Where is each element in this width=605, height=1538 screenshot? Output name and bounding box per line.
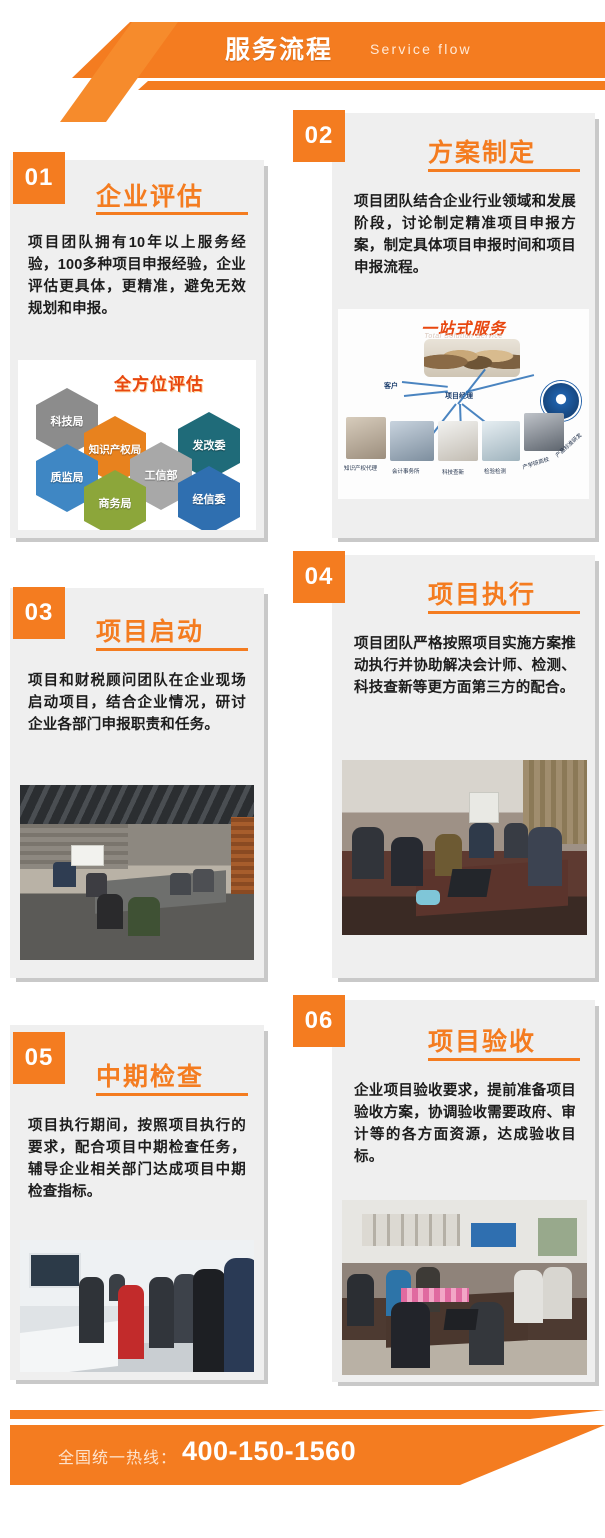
arrow-from-customer — [404, 390, 448, 397]
step-title-06: 项目验收 — [428, 1022, 536, 1058]
step-card-05: 05 中期检查 项目执行期间，按照项目执行的要求，配合项目中期检查任务，辅导企业… — [10, 1025, 264, 1380]
photo-person-5 — [193, 1269, 226, 1372]
step-number-badge-04: 04 — [293, 551, 345, 603]
photo-person-2 — [391, 837, 423, 886]
thumb-inspection — [482, 421, 520, 461]
footer-orange-stripe — [10, 1410, 605, 1419]
arrow-to-customer — [402, 381, 448, 388]
step-body-03: 项目和财税顾问团队在企业现场启动项目，结合企业情况，研讨企业各部门申报职责和任务… — [28, 670, 246, 736]
photo-person-6 — [528, 827, 562, 887]
step-card-06: 06 项目验收 企业项目验收要求，提前准备项目验收方案，协调验收需要政府、审计等… — [332, 1000, 595, 1382]
thumb-accounting — [390, 421, 434, 461]
photo-person-7 — [543, 1267, 572, 1320]
title-underline-04 — [428, 611, 580, 614]
photo-wood-panel — [231, 817, 254, 894]
one-stop-label-inspection: 检验检测 — [484, 467, 506, 475]
one-stop-label-ip: 知识产权代理 — [344, 464, 377, 472]
photo-bag — [416, 890, 441, 906]
step-number-badge-06: 06 — [293, 995, 345, 1047]
photo-display-screen — [29, 1253, 80, 1287]
photo-person-1 — [53, 862, 76, 887]
photo-laptop — [447, 869, 491, 897]
photo-laptop — [443, 1309, 478, 1330]
hexagon-infographic: 全方位评估 科技局 知识产权局 发改委 质监局 工信部 商务局 经信委 — [18, 360, 256, 530]
photo-person-4 — [170, 873, 191, 896]
step-card-02: 02 方案制定 项目团队结合企业行业领域和发展阶段，讨论制定精准项目申报方案，制… — [332, 113, 595, 538]
conference-room-photo — [20, 785, 254, 960]
photo-person-green-coat — [128, 897, 161, 936]
step-title-03: 项目启动 — [96, 612, 204, 648]
photo-person-5 — [504, 823, 529, 858]
photo-person-red-coat — [118, 1285, 144, 1359]
step-number-badge-01: 01 — [13, 152, 65, 204]
photo-ceiling — [20, 785, 254, 824]
hexagon-title: 全方位评估 — [114, 370, 204, 395]
photo-person-5 — [193, 869, 214, 892]
hotline-label: 全国统一热线： — [58, 1444, 177, 1468]
step-body-06: 企业项目验收要求，提前准备项目验收方案，协调验收需要政府、审计等的各方面资源，达… — [354, 1080, 576, 1168]
title-underline-02 — [428, 169, 580, 172]
title-underline-01 — [96, 212, 248, 215]
step-title-05: 中期检查 — [96, 1057, 204, 1093]
photo-person-1 — [352, 827, 384, 880]
photo-certificate-wall — [362, 1214, 460, 1246]
title-underline-05 — [96, 1093, 248, 1096]
photo-person-6 — [224, 1258, 254, 1372]
step-number-badge-02: 02 — [293, 110, 345, 162]
one-stop-label-customer: 客户 — [384, 381, 398, 391]
thumb-tech-search — [438, 421, 478, 461]
title-underline-03 — [96, 648, 248, 651]
step-body-04: 项目团队严格按照项目实施方案推动执行并协助解决会计师、检测、科技查新等更方面第三… — [354, 633, 576, 699]
page-header: 服务流程 Service flow — [0, 0, 605, 110]
step-body-05: 项目执行期间，按照项目执行的要求，配合项目中期检查任务，辅导企业相关部门达成项目… — [28, 1115, 246, 1203]
photo-whiteboard — [71, 845, 104, 866]
thumb-university — [524, 413, 564, 451]
photo-person-4 — [391, 1302, 430, 1369]
acceptance-meeting-photo — [342, 1200, 587, 1375]
photo-person-3 — [97, 894, 123, 929]
photo-person-1 — [79, 1277, 105, 1343]
one-stop-label-university: 产学研高校 — [521, 455, 550, 471]
photo-person-1 — [347, 1274, 374, 1327]
photo-green-board — [538, 1218, 577, 1257]
one-stop-center-photo — [424, 339, 520, 377]
step-body-02: 项目团队结合企业行业领域和发展阶段，讨论制定精准项目申报方案，制定具体项目申报时… — [354, 191, 576, 279]
step-card-03: 03 项目启动 项目和财税顾问团队在企业现场启动项目，结合企业情况，研讨企业各部… — [10, 588, 264, 978]
step-card-01: 01 企业评估 项目团队拥有10年以上服务经验，100多种项目申报经验，企业评估… — [10, 160, 264, 538]
step-title-02: 方案制定 — [428, 133, 536, 169]
photo-ac-unit — [469, 792, 498, 824]
photo-person-3 — [149, 1277, 175, 1348]
one-stop-service-diagram: 一站式服务 Total Solution Service 客户 项目经理 知识产… — [338, 309, 589, 499]
step-title-04: 项目执行 — [428, 575, 536, 611]
photo-flowers — [401, 1288, 470, 1302]
page-subtitle: Service flow — [370, 41, 472, 57]
photo-projector-screen — [469, 1221, 518, 1249]
one-stop-label-accounting: 会计事务所 — [392, 467, 420, 475]
step-title-01: 企业评估 — [96, 177, 204, 213]
title-underline-06 — [428, 1058, 580, 1061]
thumb-ip-agency — [346, 417, 386, 459]
page-title: 服务流程 — [225, 30, 333, 66]
step-card-04: 04 项目执行 项目团队严格按照项目实施方案推动执行并协助解决会计师、检测、科技… — [332, 555, 595, 978]
step-number-badge-05: 05 — [13, 1032, 65, 1084]
hotline-number[interactable]: 400-150-1560 — [182, 1436, 356, 1467]
photo-person-4 — [469, 823, 494, 858]
photo-person-6 — [514, 1270, 543, 1323]
meeting-laptops-photo — [342, 760, 587, 935]
step-number-badge-03: 03 — [13, 587, 65, 639]
one-stop-label-techsearch: 科技查新 — [442, 468, 464, 476]
service-flow-infographic: 服务流程 Service flow 01 企业评估 项目团队拥有10年以上服务经… — [0, 0, 605, 1538]
showroom-visit-photo — [20, 1240, 254, 1372]
step-body-01: 项目团队拥有10年以上服务经验，100多种项目申报经验，企业评估更具体，更精准，… — [28, 232, 246, 320]
